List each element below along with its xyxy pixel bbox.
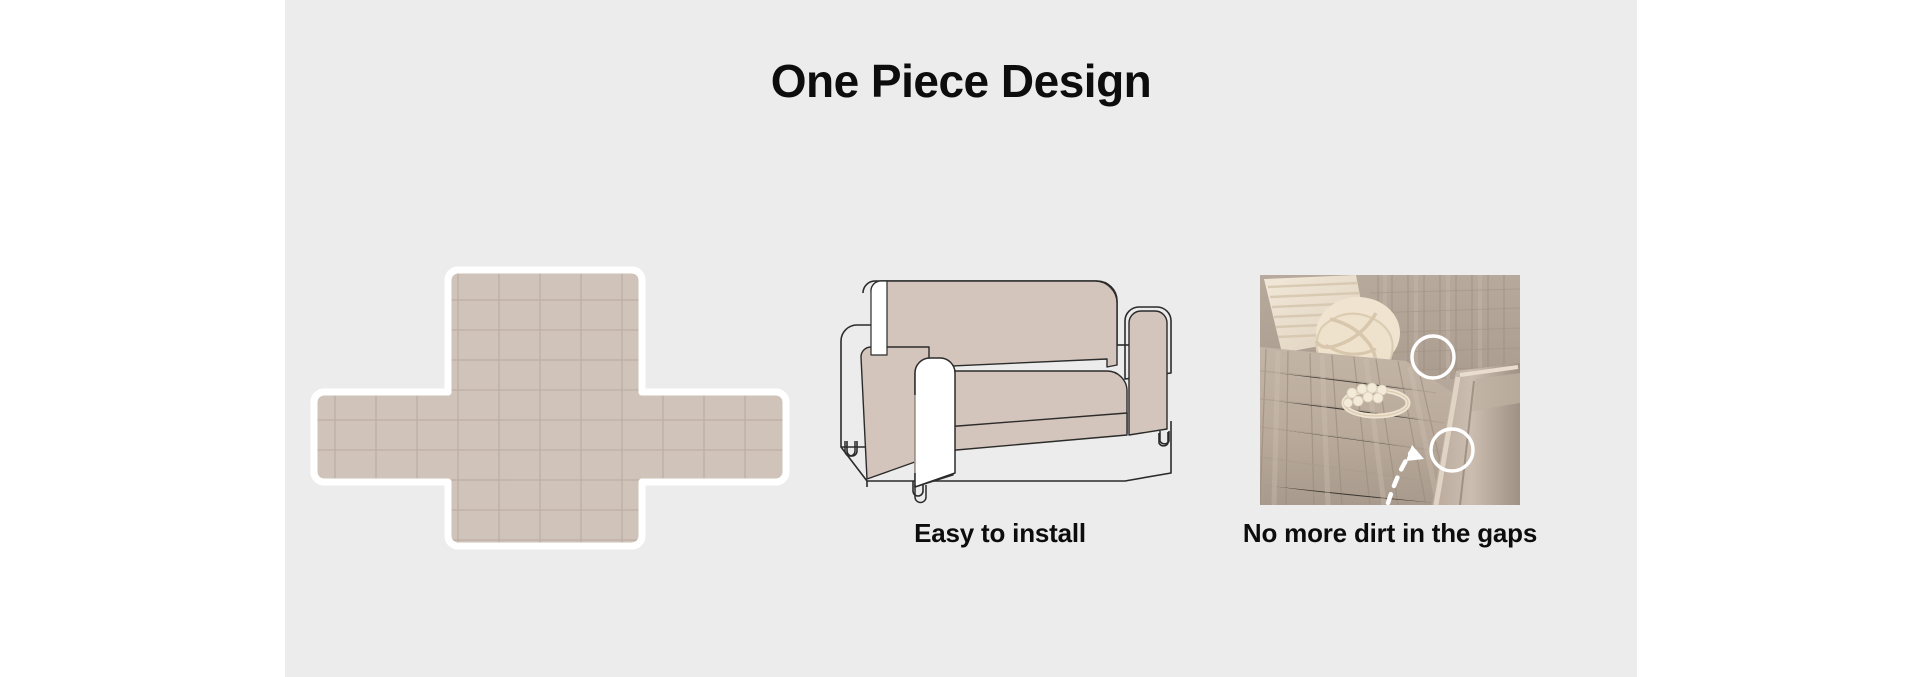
product-infographic: One Piece Design (0, 0, 1920, 677)
cover-left-arm-flap-top (915, 358, 955, 487)
sofa-cover-drape (861, 281, 1167, 487)
sofa-line-drawing-svg (815, 255, 1185, 515)
cover-back-left-gap (871, 281, 887, 355)
cover-right-arm (1129, 311, 1167, 435)
infographic-canvas: One Piece Design (285, 0, 1637, 677)
page-title: One Piece Design (285, 58, 1637, 104)
photo-content (1260, 275, 1520, 505)
flat-cover-svg (310, 258, 790, 558)
sofa-line-drawing (815, 255, 1185, 515)
sofa-gap-photo-svg (1260, 275, 1520, 505)
sofa-gap-photo (1260, 275, 1520, 505)
caption-easy-to-install: Easy to install (815, 520, 1185, 546)
flat-cover-diagram (310, 258, 790, 558)
caption-no-more-dirt: No more dirt in the gaps (1235, 520, 1545, 546)
flat-cover-outline (314, 270, 786, 546)
